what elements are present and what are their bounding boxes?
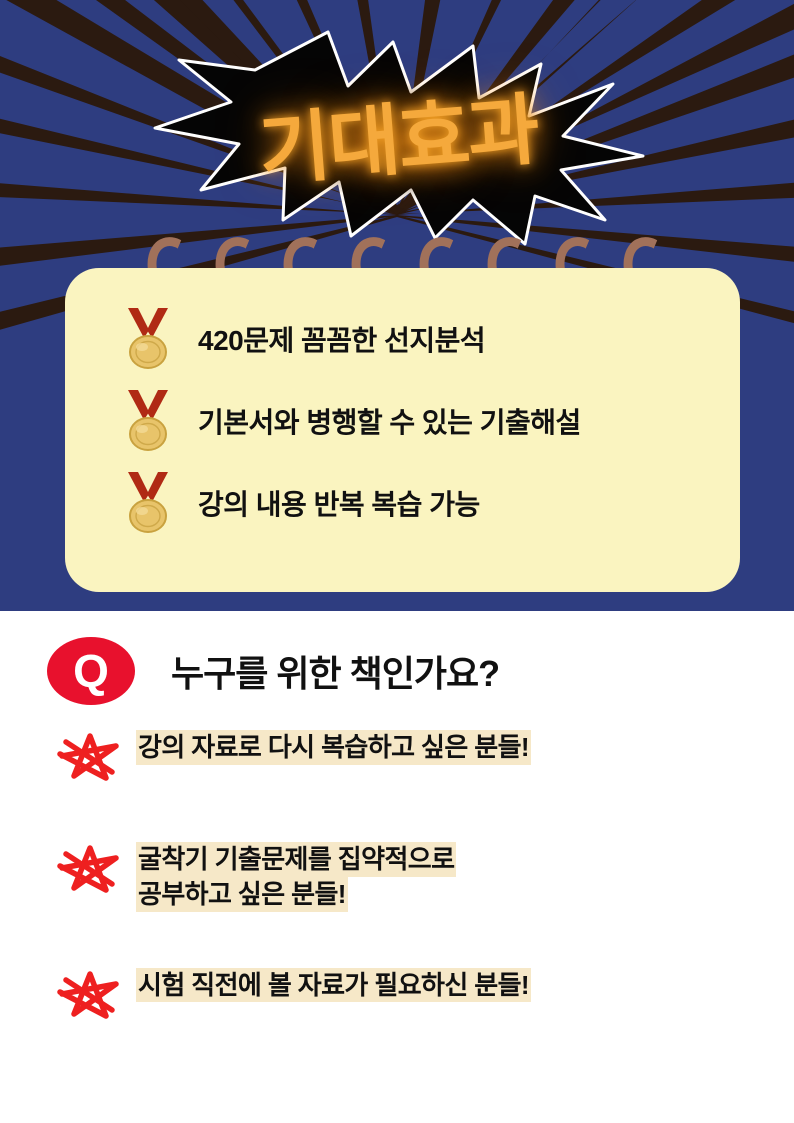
list-item-label: 기본서와 병행할 수 있는 기출해설: [198, 401, 581, 441]
qa-section: Q 누구를 위한 책인가요? 강의 자료로 다시 복습하고 싶은 분들!: [0, 611, 794, 1123]
list-item: 강의 자료로 다시 복습하고 싶은 분들!: [50, 726, 780, 786]
list-item: 기본서와 병행할 수 있는 기출해설: [65, 380, 740, 462]
gold-medal-icon: [120, 390, 176, 452]
q-badge-icon: Q: [47, 637, 135, 705]
list-item-label: 시험 직전에 볼 자료가 필요하신 분들!: [136, 968, 531, 1003]
notepad-panel: 420문제 꼼꼼한 선지분석 기본서와 병행할 수 있는 기출해설: [65, 268, 740, 592]
red-star-scribble-icon: [50, 728, 128, 786]
list-item: 시험 직전에 볼 자료가 필요하신 분들!: [50, 964, 780, 1024]
list-item: 강의 내용 반복 복습 가능: [65, 462, 740, 544]
starburst-icon: [143, 24, 653, 250]
benefit-list: 420문제 꼼꼼한 선지분석 기본서와 병행할 수 있는 기출해설: [65, 298, 740, 544]
hero-section: 기대효과 420문제 꼼꼼한 선지분석: [0, 0, 794, 611]
gold-medal-icon: [120, 308, 176, 370]
list-item-lines: 강의 자료로 다시 복습하고 싶은 분들!: [136, 726, 531, 765]
list-item: 420문제 꼼꼼한 선지분석: [65, 298, 740, 380]
list-item-label: 공부하고 싶은 분들!: [136, 877, 348, 912]
list-item-label: 강의 자료로 다시 복습하고 싶은 분들!: [136, 730, 531, 765]
question-title: 누구를 위한 책인가요?: [171, 645, 499, 697]
list-item-lines: 시험 직전에 볼 자료가 필요하신 분들!: [136, 964, 531, 1003]
list-item-label: 굴착기 기출문제를 집약적으로: [136, 842, 456, 877]
audience-list: 강의 자료로 다시 복습하고 싶은 분들! 굴착기 기출문제를 집약적으로 공부…: [50, 726, 780, 1076]
list-item-label: 강의 내용 반복 복습 가능: [198, 483, 480, 523]
title-starburst: 기대효과: [143, 24, 653, 250]
list-item-label: 420문제 꼼꼼한 선지분석: [198, 319, 485, 359]
gold-medal-icon: [120, 472, 176, 534]
list-item-lines: 굴착기 기출문제를 집약적으로 공부하고 싶은 분들!: [136, 838, 456, 912]
red-star-scribble-icon: [50, 966, 128, 1024]
list-item: 굴착기 기출문제를 집약적으로 공부하고 싶은 분들!: [50, 838, 780, 912]
red-star-scribble-icon: [50, 840, 128, 898]
question-header: Q 누구를 위한 책인가요?: [47, 637, 499, 705]
